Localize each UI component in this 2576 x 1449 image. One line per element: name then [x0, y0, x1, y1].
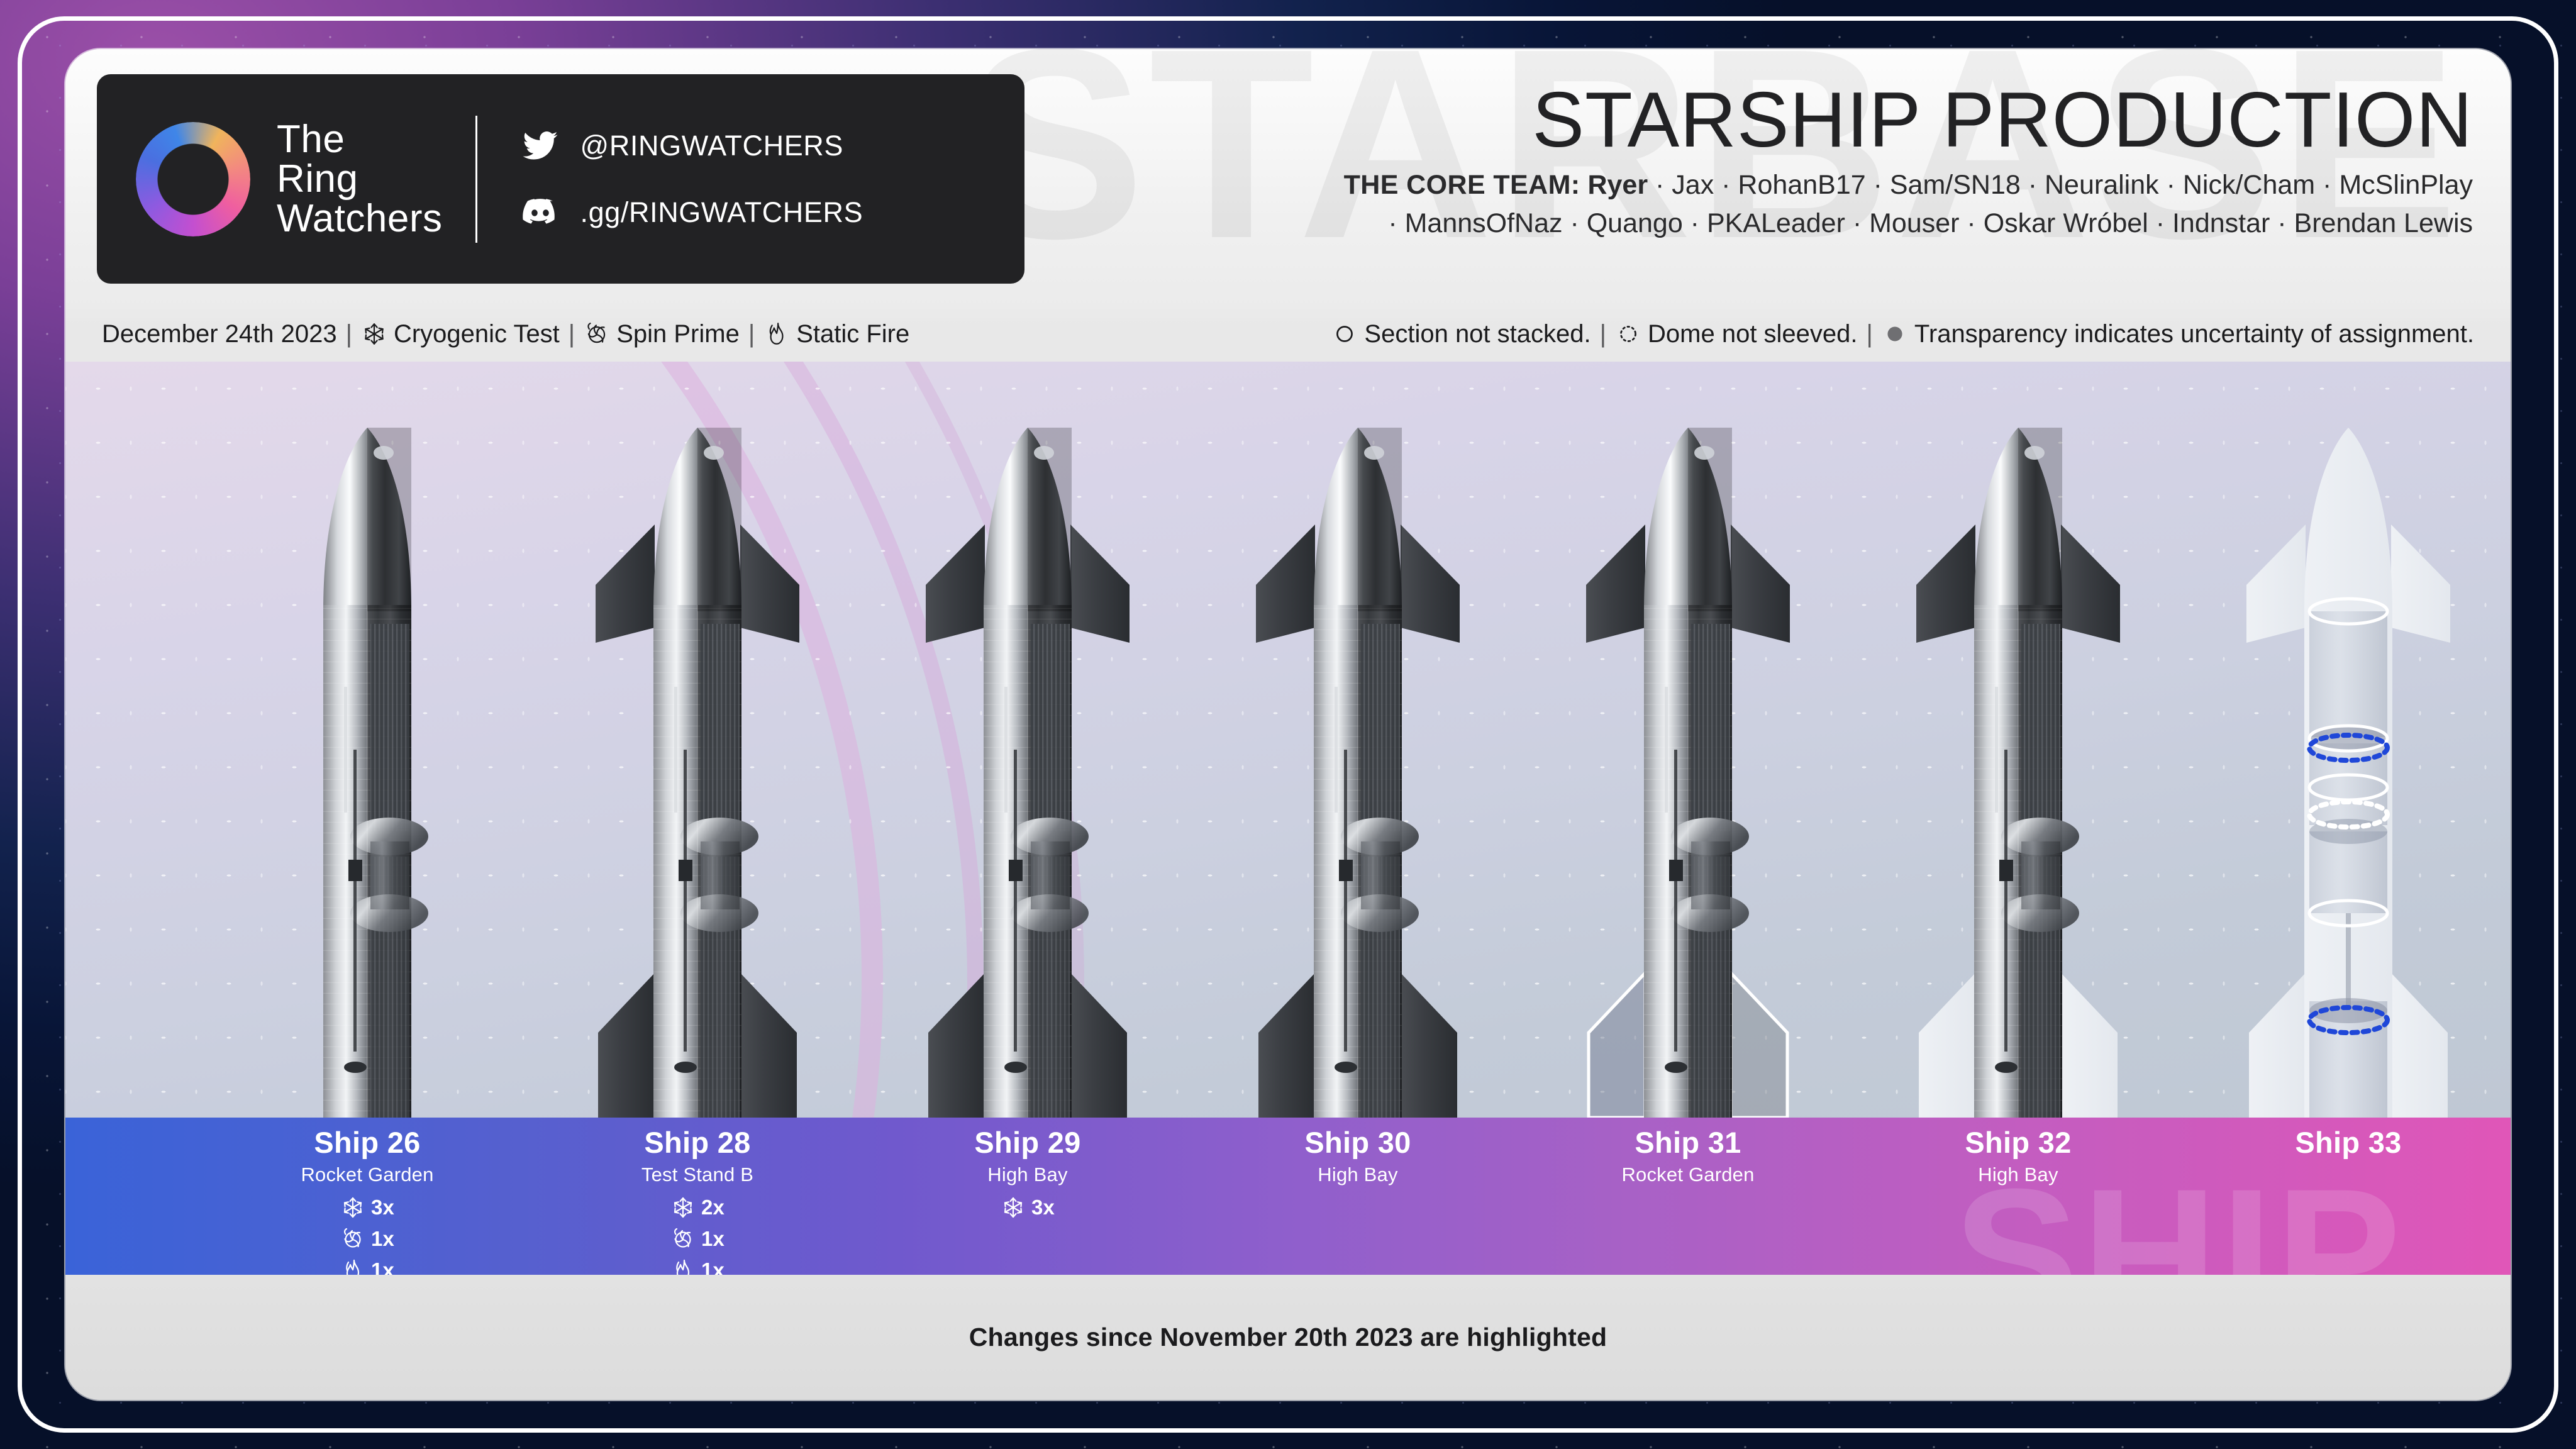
ship-render-ship-30 — [1245, 416, 1471, 1118]
footer-note: Changes since November 20th 2023 are hig… — [969, 1323, 1607, 1352]
page-title: STARSHIP PRODUCTION — [1089, 80, 2473, 160]
core-team-lead: Ryer — [1587, 170, 1648, 200]
test-row-cryo: 3x — [1001, 1194, 1055, 1221]
ship-name: Ship 26 — [223, 1125, 512, 1160]
test-count: 3x — [371, 1196, 394, 1219]
ship-name: Ship 30 — [1213, 1125, 1502, 1160]
footer: Changes since November 20th 2023 are hig… — [65, 1275, 2511, 1400]
ship-render-ship-33 — [2235, 416, 2462, 1118]
legend-not-stacked: Section not stacked. — [1331, 320, 1591, 348]
test-count: 1x — [701, 1258, 724, 1275]
test-row-static-fire: 1x — [670, 1257, 724, 1275]
glass-barrels — [2309, 599, 2387, 1118]
ship-location: High Bay — [883, 1163, 1172, 1186]
legend-separator-3: | — [748, 320, 755, 348]
twitter-handle: @RINGWATCHERS — [580, 130, 843, 162]
header: STARBASE The Ring Watchers @RINGWATCHERS — [65, 49, 2511, 362]
dotted-circle-icon — [1615, 321, 1641, 347]
ship-name: Ship 31 — [1543, 1125, 1833, 1160]
spin-prime-icon — [340, 1226, 365, 1252]
filled-circle-icon — [1882, 321, 1908, 347]
core-team-line-2: · MannsOfNaz · Quango · PKALeader · Mous… — [1089, 208, 2473, 239]
snowflake-icon — [670, 1195, 696, 1220]
ship-render-ship-29 — [914, 416, 1141, 1118]
ship-test-list: 3x 1x 1x — [223, 1194, 512, 1275]
legend-right: Section not stacked. | Dome not sleeved.… — [1331, 320, 2474, 348]
ship-location: Rocket Garden — [223, 1163, 512, 1186]
ship-label-ship-26[interactable]: Ship 26 Rocket Garden 3x 1x 1x — [223, 1125, 512, 1275]
test-row-cryo: 2x — [670, 1194, 724, 1221]
test-count: 1x — [371, 1227, 394, 1251]
legend-date: December 24th 2023 — [102, 320, 337, 348]
legend-separator: | — [346, 320, 352, 348]
infographic-canvas: STARBASE The Ring Watchers @RINGWATCHERS — [0, 0, 2576, 1449]
discord-handle: .gg/RINGWATCHERS — [580, 196, 863, 229]
ship-label-bar: SHIP Ship 26 Rocket Garden 3x 1x — [65, 1118, 2511, 1275]
twitter-icon — [521, 127, 559, 165]
core-team-label: THE CORE TEAM: — [1344, 170, 1580, 200]
flame-icon — [340, 1258, 365, 1275]
brand-name-line-1: The — [277, 119, 443, 159]
snowflake-icon — [1001, 1195, 1026, 1220]
test-count: 1x — [701, 1227, 724, 1251]
ship-name: Ship 32 — [1874, 1125, 2163, 1160]
brand-name-line-3: Watchers — [277, 199, 443, 238]
legend-left: December 24th 2023 | — [102, 320, 909, 348]
ship-location: Test Stand B — [553, 1163, 842, 1186]
spin-prime-icon — [670, 1226, 696, 1252]
test-row-spin: 1x — [340, 1225, 394, 1253]
title-block: STARSHIP PRODUCTION THE CORE TEAM: Ryer … — [1089, 80, 2473, 239]
brand-divider — [475, 116, 477, 243]
open-circle-icon — [1331, 321, 1358, 347]
ship-render-ship-26 — [273, 416, 462, 1118]
legend-static-fire-label: Static Fire — [796, 320, 909, 348]
ship-label-ship-29[interactable]: Ship 29 High Bay 3x — [883, 1125, 1172, 1221]
ship-label-ship-32[interactable]: Ship 32 High Bay — [1874, 1125, 2163, 1186]
ship-test-list: 3x — [883, 1194, 1172, 1221]
test-count: 2x — [701, 1196, 724, 1219]
ship-location: Rocket Garden — [1543, 1163, 1833, 1186]
ship-name: Ship 33 — [2204, 1125, 2493, 1160]
discord-icon — [521, 194, 559, 231]
ship-stage — [65, 362, 2511, 1118]
ship-render-ship-28 — [584, 416, 811, 1118]
flame-icon — [763, 321, 790, 347]
flame-icon — [670, 1258, 696, 1275]
core-team-line-1: THE CORE TEAM: Ryer · Jax · RohanB17 · S… — [1089, 170, 2473, 201]
legend-transparency: Transparency indicates uncertainty of as… — [1882, 320, 2474, 348]
legend-separator-5: | — [1867, 320, 1873, 348]
test-row-spin: 1x — [670, 1225, 724, 1253]
social-link-twitter[interactable]: @RINGWATCHERS — [521, 127, 863, 165]
ship-label-ship-28[interactable]: Ship 28 Test Stand B 2x 1x 1x — [553, 1125, 842, 1275]
test-row-cryo: 3x — [340, 1194, 394, 1221]
legend-separator-2: | — [569, 320, 575, 348]
social-link-discord[interactable]: .gg/RINGWATCHERS — [521, 194, 863, 231]
test-count: 1x — [371, 1258, 394, 1275]
brand-name: The Ring Watchers — [277, 119, 443, 239]
ring-logo-icon — [136, 122, 250, 236]
snowflake-icon — [361, 321, 387, 347]
legend-cryo-label: Cryogenic Test — [394, 320, 560, 348]
ship-render-ship-32 — [1905, 416, 2131, 1118]
legend-separator-4: | — [1600, 320, 1606, 348]
legend-spin: Spin Prime — [584, 320, 740, 348]
spin-prime-icon — [584, 321, 610, 347]
ship-location: High Bay — [1874, 1163, 2163, 1186]
core-team-members-1: · Jax · RohanB17 · Sam/SN18 · Neuralink … — [1648, 170, 2473, 200]
legend-strip: December 24th 2023 | — [65, 306, 2511, 362]
social-links: @RINGWATCHERS .gg/RINGWATCHERS — [521, 127, 863, 231]
brand-name-line-2: Ring — [277, 159, 443, 199]
legend-dome-not-sleeved: Dome not sleeved. — [1615, 320, 1858, 348]
ship-name: Ship 28 — [553, 1125, 842, 1160]
ship-label-ship-31[interactable]: Ship 31 Rocket Garden — [1543, 1125, 1833, 1186]
brand-box: The Ring Watchers @RINGWATCHERS — [97, 74, 1024, 284]
test-row-static-fire: 1x — [340, 1257, 394, 1275]
legend-dome-label: Dome not sleeved. — [1648, 320, 1858, 348]
ship-location: High Bay — [1213, 1163, 1502, 1186]
ship-test-list: 2x 1x 1x — [553, 1194, 842, 1275]
infographic-card: STARBASE The Ring Watchers @RINGWATCHERS — [65, 49, 2511, 1400]
legend-spin-label: Spin Prime — [616, 320, 740, 348]
legend-transparency-label: Transparency indicates uncertainty of as… — [1914, 320, 2474, 348]
legend-cryo: Cryogenic Test — [361, 320, 560, 348]
ship-label-ship-33[interactable]: Ship 33 — [2204, 1125, 2493, 1163]
ship-render-ship-31 — [1575, 416, 1801, 1118]
legend-static-fire: Static Fire — [763, 320, 909, 348]
snowflake-icon — [340, 1195, 365, 1220]
ship-name: Ship 29 — [883, 1125, 1172, 1160]
ship-label-ship-30[interactable]: Ship 30 High Bay — [1213, 1125, 1502, 1186]
test-count: 3x — [1031, 1196, 1055, 1219]
decorative-arc-2 — [65, 362, 984, 1118]
legend-not-stacked-label: Section not stacked. — [1364, 320, 1591, 348]
